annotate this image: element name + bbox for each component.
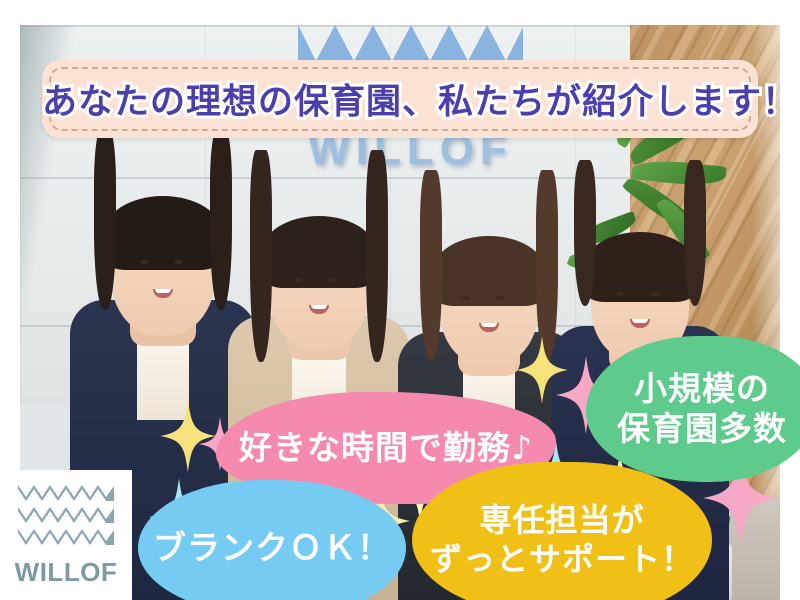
bubble-blue-text: ブランクＯＫ！ (153, 528, 391, 568)
poster-root: WILLOF (0, 0, 800, 600)
willof-logo-card: WILLOF (0, 470, 132, 600)
headline-banner: あなたの理想の保育園、私たちが紹介します！ (42, 60, 758, 138)
bubble-blank-ok: ブランクＯＫ！ (138, 480, 406, 600)
bubble-green-text: 小規模の 保育園多数 (617, 369, 787, 450)
logo-wordmark: WILLOF (15, 557, 118, 588)
zigzag-icon (18, 505, 114, 523)
zigzag-icon (18, 527, 114, 545)
bubble-pink-text: 好きな時間で勤務♪ (239, 428, 533, 468)
bubble-yellow-text: 専任担当が ずっとサポート！ (430, 501, 694, 579)
bubble-small-nurseries: 小規模の 保育園多数 (586, 336, 800, 482)
zigzag-icon (18, 483, 114, 501)
bubble-dedicated-support: 専任担当が ずっとサポート！ (412, 462, 712, 600)
banner-text: あなたの理想の保育園、私たちが紹介します！ (42, 74, 758, 125)
